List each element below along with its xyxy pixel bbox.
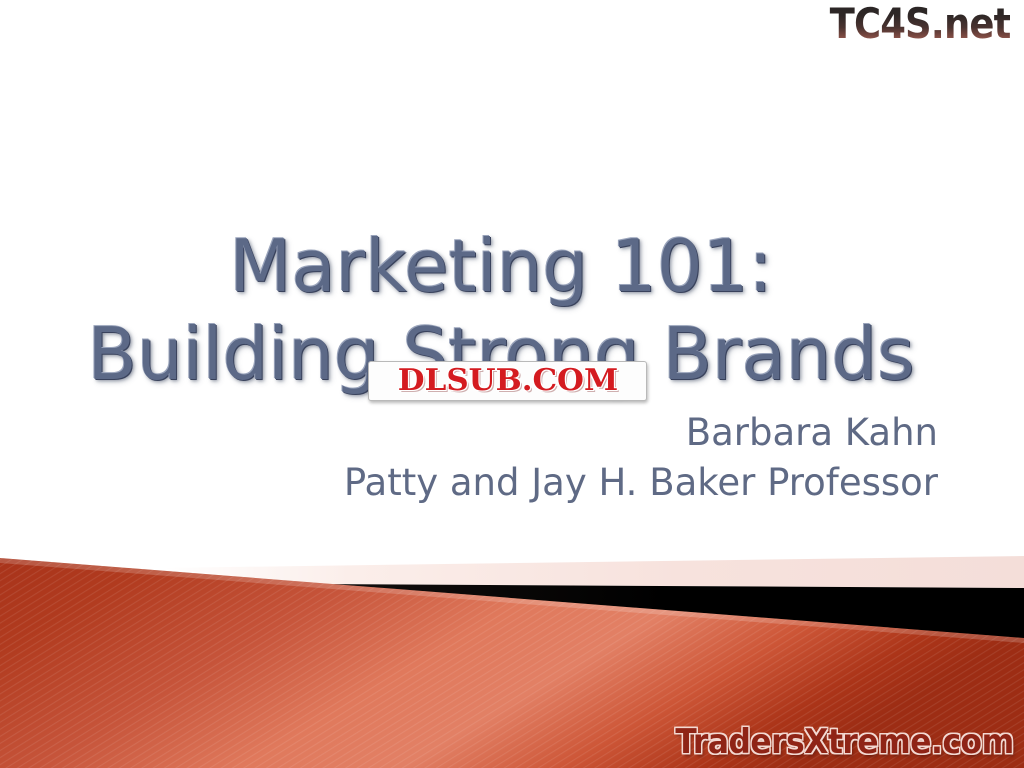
presentation-slide: TC4S.net xyxy=(0,0,1024,768)
tradersxtreme-watermark: TradersXtreme.com xyxy=(676,722,1014,762)
author-name: Barbara Kahn xyxy=(344,408,938,458)
black-wedge xyxy=(310,584,1024,642)
author-title: Patty and Jay H. Baker Professor xyxy=(344,458,938,508)
title-line-1: Marketing 101: xyxy=(0,222,1002,310)
pink-wedge xyxy=(160,556,1024,588)
dlsub-watermark-text: DLSUB.COM xyxy=(397,365,617,397)
tc4s-watermark: TC4S.net xyxy=(829,2,1010,46)
dlsub-watermark: DLSUB.COM xyxy=(368,361,647,401)
orange-top-highlight xyxy=(0,558,1024,643)
slide-subtitle: Barbara Kahn Patty and Jay H. Baker Prof… xyxy=(344,408,938,508)
